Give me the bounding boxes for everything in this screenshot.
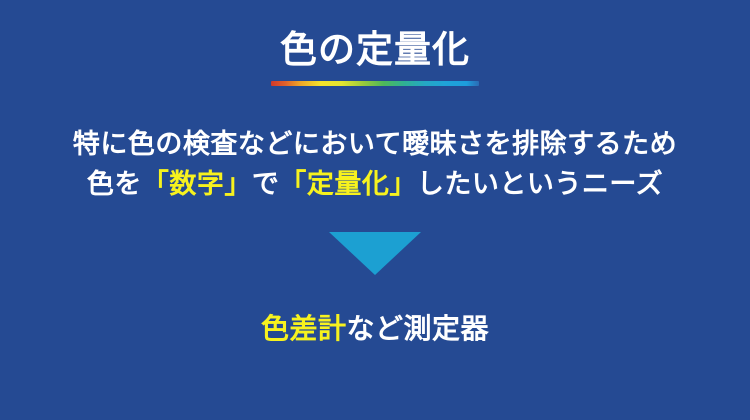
conclusion-highlight: 色差計 [261, 312, 347, 345]
body-line-2-segment-plain-2: で [252, 169, 280, 200]
down-triangle-icon [329, 232, 421, 275]
page-title: 色の定量化 [0, 28, 750, 72]
body-paragraph: 特に色の検査などにおいて曖昧さを排除するため 色を「数字」で「定量化」したいとい… [0, 125, 750, 205]
body-line-1: 特に色の検査などにおいて曖昧さを排除するため [0, 125, 750, 165]
slide-canvas: 色の定量化 特に色の検査などにおいて曖昧さを排除するため 色を「数字」で「定量化… [0, 0, 750, 420]
body-line-2-segment-plain-3: したいというニーズ [417, 169, 663, 200]
conclusion-line: 色差計など測定器 [0, 310, 750, 348]
arrow-container [0, 232, 750, 275]
body-line-2-highlight-quantify: 「定量化」 [279, 169, 417, 200]
body-line-2-segment-plain-1: 色を [87, 169, 142, 200]
rainbow-gradient-rule [271, 81, 479, 86]
body-line-2: 色を「数字」で「定量化」したいというニーズ [0, 165, 750, 205]
body-line-2-highlight-number: 「数字」 [142, 169, 252, 200]
title-block: 色の定量化 [0, 28, 750, 72]
conclusion-rest: など測定器 [347, 312, 490, 345]
